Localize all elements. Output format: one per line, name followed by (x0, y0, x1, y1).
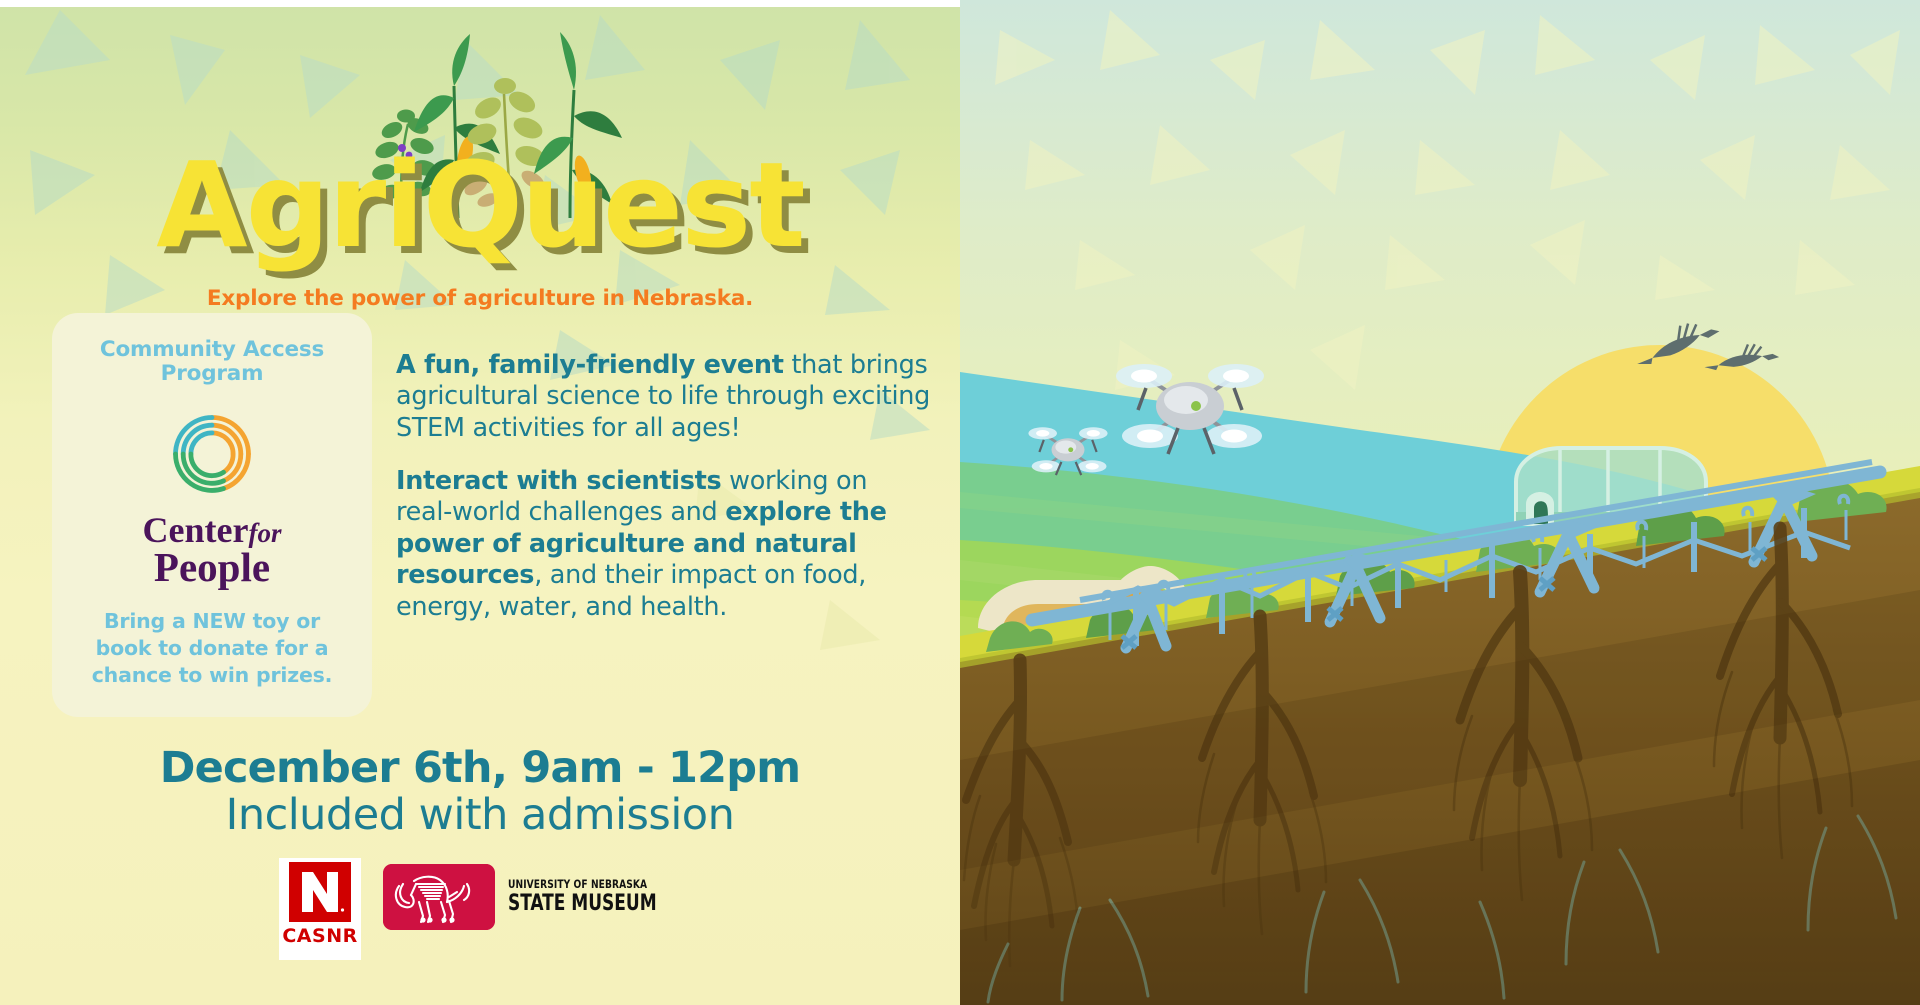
casnr-label: CASNR (282, 925, 357, 947)
body-copy: A fun, family-friendly event that brings… (396, 350, 931, 645)
landscape-illustration (960, 0, 1920, 1005)
community-access-program-card: Community Access Program (52, 313, 372, 717)
logo-row: CASNR (0, 858, 960, 968)
cfp-people-text: People (143, 547, 282, 588)
page-title: AgriQuest (0, 146, 960, 264)
museum-line-1: UNIVERSITY OF NEBRASKA (508, 879, 660, 891)
cap-donate-text: Bring a NEW toy or book to donate for a … (77, 608, 347, 689)
poster-root: AgriQuest Explore the power of agricultu… (0, 0, 1920, 1005)
cap-heading-line1: Community Access (100, 338, 324, 362)
cap-heading-line2: Program (161, 362, 264, 386)
paragraph-2: Interact with scientists working on real… (396, 466, 931, 623)
paragraph-2-bold-1: Interact with scientists (396, 466, 721, 496)
museum-text-block: UNIVERSITY OF NEBRASKA STATE MUSEUM (508, 879, 681, 915)
state-museum-logo: UNIVERSITY OF NEBRASKA STATE MUSEUM (383, 864, 681, 930)
paragraph-1-bold: A fun, family-friendly event (396, 350, 784, 380)
top-white-strip (0, 0, 960, 7)
museum-line-2: STATE MUSEUM (508, 893, 657, 915)
casnr-logo: CASNR (279, 858, 361, 960)
title-block: AgriQuest Explore the power of agricultu… (0, 28, 960, 288)
tagline: Explore the power of agriculture in Nebr… (0, 286, 960, 311)
center-for-people-wordmark: Centerfor People (143, 512, 282, 588)
paragraph-1: A fun, family-friendly event that brings… (396, 350, 931, 444)
event-date-time: December 6th, 9am - 12pm (0, 745, 960, 791)
event-details: December 6th, 9am - 12pm Included with a… (0, 745, 960, 840)
mammoth-skeleton-icon (383, 864, 495, 930)
landscape-illustration-svg (960, 0, 1920, 1005)
center-for-people-swirl-logo-icon (164, 406, 260, 502)
nebraska-n-icon (289, 862, 351, 922)
event-admission: Included with admission (0, 791, 960, 839)
left-info-panel: AgriQuest Explore the power of agricultu… (0, 0, 960, 1005)
